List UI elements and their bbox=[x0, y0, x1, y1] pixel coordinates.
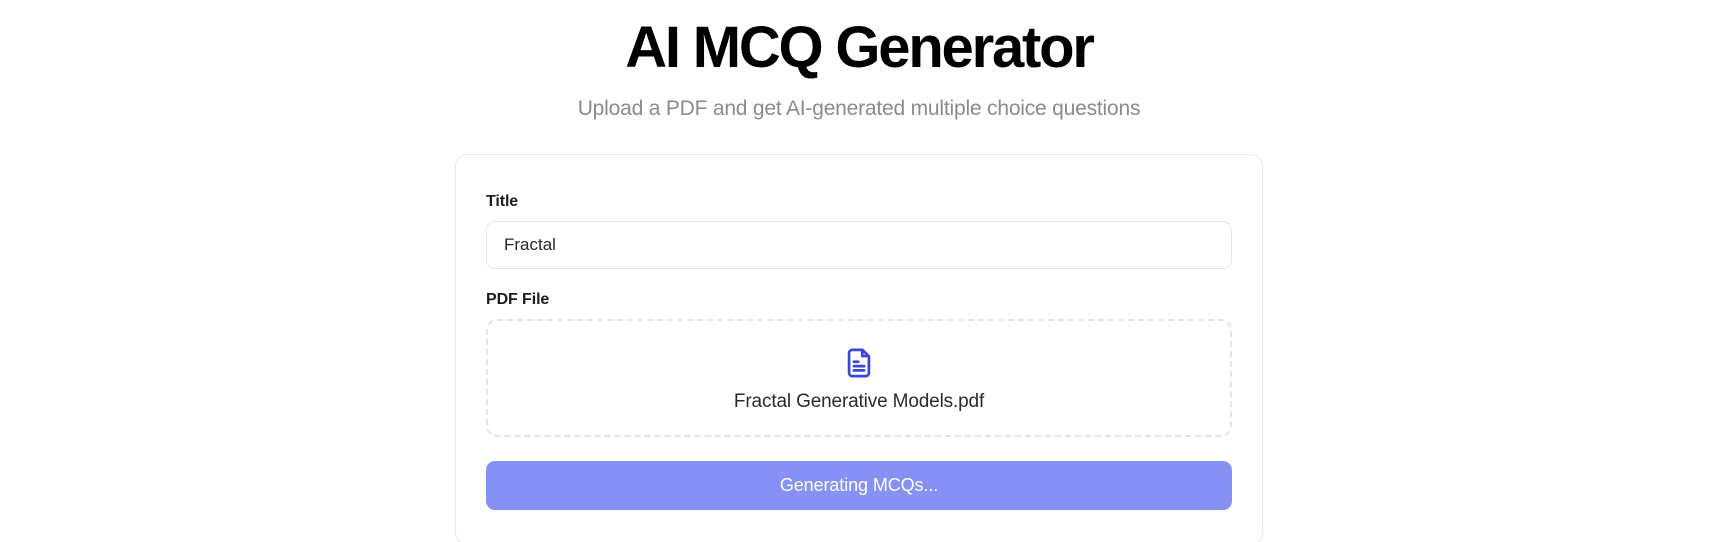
generate-mcqs-button[interactable]: Generating MCQs... bbox=[486, 461, 1232, 510]
mcq-form-card: Title PDF File Fractal Generative Models… bbox=[455, 154, 1263, 542]
title-field-label: Title bbox=[486, 193, 1232, 211]
app-root: AI MCQ Generator Upload a PDF and get AI… bbox=[0, 0, 1718, 542]
title-input[interactable] bbox=[486, 221, 1232, 269]
pdf-field-label: PDF File bbox=[486, 291, 1232, 309]
pdf-dropzone[interactable]: Fractal Generative Models.pdf bbox=[486, 319, 1232, 437]
title-field-group: Title bbox=[486, 193, 1232, 269]
pdf-filename: Fractal Generative Models.pdf bbox=[734, 392, 984, 411]
pdf-field-group: PDF File Fractal Generative Models.pdf bbox=[486, 291, 1232, 437]
page-header: AI MCQ Generator Upload a PDF and get AI… bbox=[0, 0, 1718, 122]
page-subtitle: Upload a PDF and get AI-generated multip… bbox=[0, 95, 1718, 122]
document-icon bbox=[842, 346, 876, 380]
page-title: AI MCQ Generator bbox=[0, 16, 1718, 81]
